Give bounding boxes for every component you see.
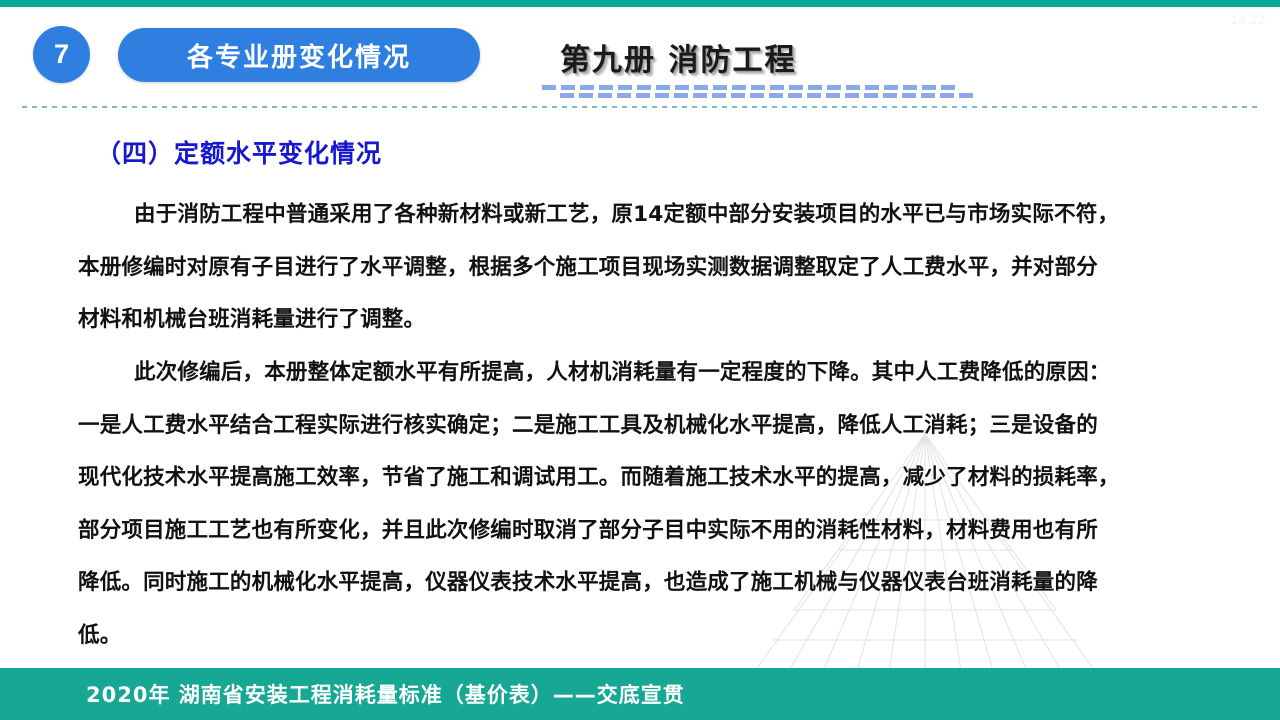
paragraph-line: 本册修编时对原有子目进行了水平调整，根据多个施工项目现场实测数据调整取定了人工费… bbox=[78, 242, 1208, 295]
footer-label: 2020年 湖南省安装工程消耗量标准（基价表）——交底宣贯 bbox=[86, 679, 685, 709]
slide-root: 14:22 7 各专业册变化情况 第九册 消防工程 bbox=[0, 0, 1280, 720]
header-divider bbox=[22, 106, 1260, 108]
title-dash-decoration-bottom bbox=[560, 93, 978, 98]
paragraph-line: 此次修编后，本册整体定额水平有所提高，人材机消耗量有一定程度的下降。其中人工费降… bbox=[78, 347, 1208, 400]
paragraph-line: 材料和机械台班消耗量进行了调整。 bbox=[78, 294, 1208, 347]
section-title-pill: 各专业册变化情况 bbox=[118, 28, 480, 82]
top-accent-bar bbox=[0, 0, 1280, 7]
paragraph-line: 降低。同时施工的机械化水平提高，仪器仪表技术水平提高，也造成了施工机械与仪器仪表… bbox=[78, 557, 1208, 610]
book-title: 第九册 消防工程 bbox=[560, 35, 796, 79]
paragraph-line: 现代化技术水平提高施工效率，节省了施工和调试用工。而随着施工技术水平的提高，减少… bbox=[78, 452, 1208, 505]
subsection-title: （四）定额水平变化情况 bbox=[96, 134, 382, 170]
paragraph-line: 由于消防工程中普通采用了各种新材料或新工艺，原14定额中部分安装项目的水平已与市… bbox=[78, 189, 1208, 242]
paragraph-line: 部分项目施工工艺也有所变化，并且此次修编时取消了部分子目中实际不用的消耗性材料，… bbox=[78, 505, 1208, 558]
paragraph-1: 由于消防工程中普通采用了各种新材料或新工艺，原14定额中部分安装项目的水平已与市… bbox=[78, 189, 1208, 347]
paragraph-2: 此次修编后，本册整体定额水平有所提高，人材机消耗量有一定程度的下降。其中人工费降… bbox=[78, 347, 1208, 662]
section-number-badge: 7 bbox=[33, 26, 90, 83]
paragraph-line: 低。 bbox=[78, 610, 1208, 663]
paragraph-line: 一是人工费水平结合工程实际进行核实确定；二是施工工具及机械化水平提高，降低人工消… bbox=[78, 400, 1208, 453]
slide-header: 7 各专业册变化情况 第九册 消防工程 bbox=[0, 7, 1280, 100]
title-dash-decoration-top bbox=[542, 85, 960, 90]
slide-footer: 2020年 湖南省安装工程消耗量标准（基价表）——交底宣贯 bbox=[0, 668, 1280, 720]
